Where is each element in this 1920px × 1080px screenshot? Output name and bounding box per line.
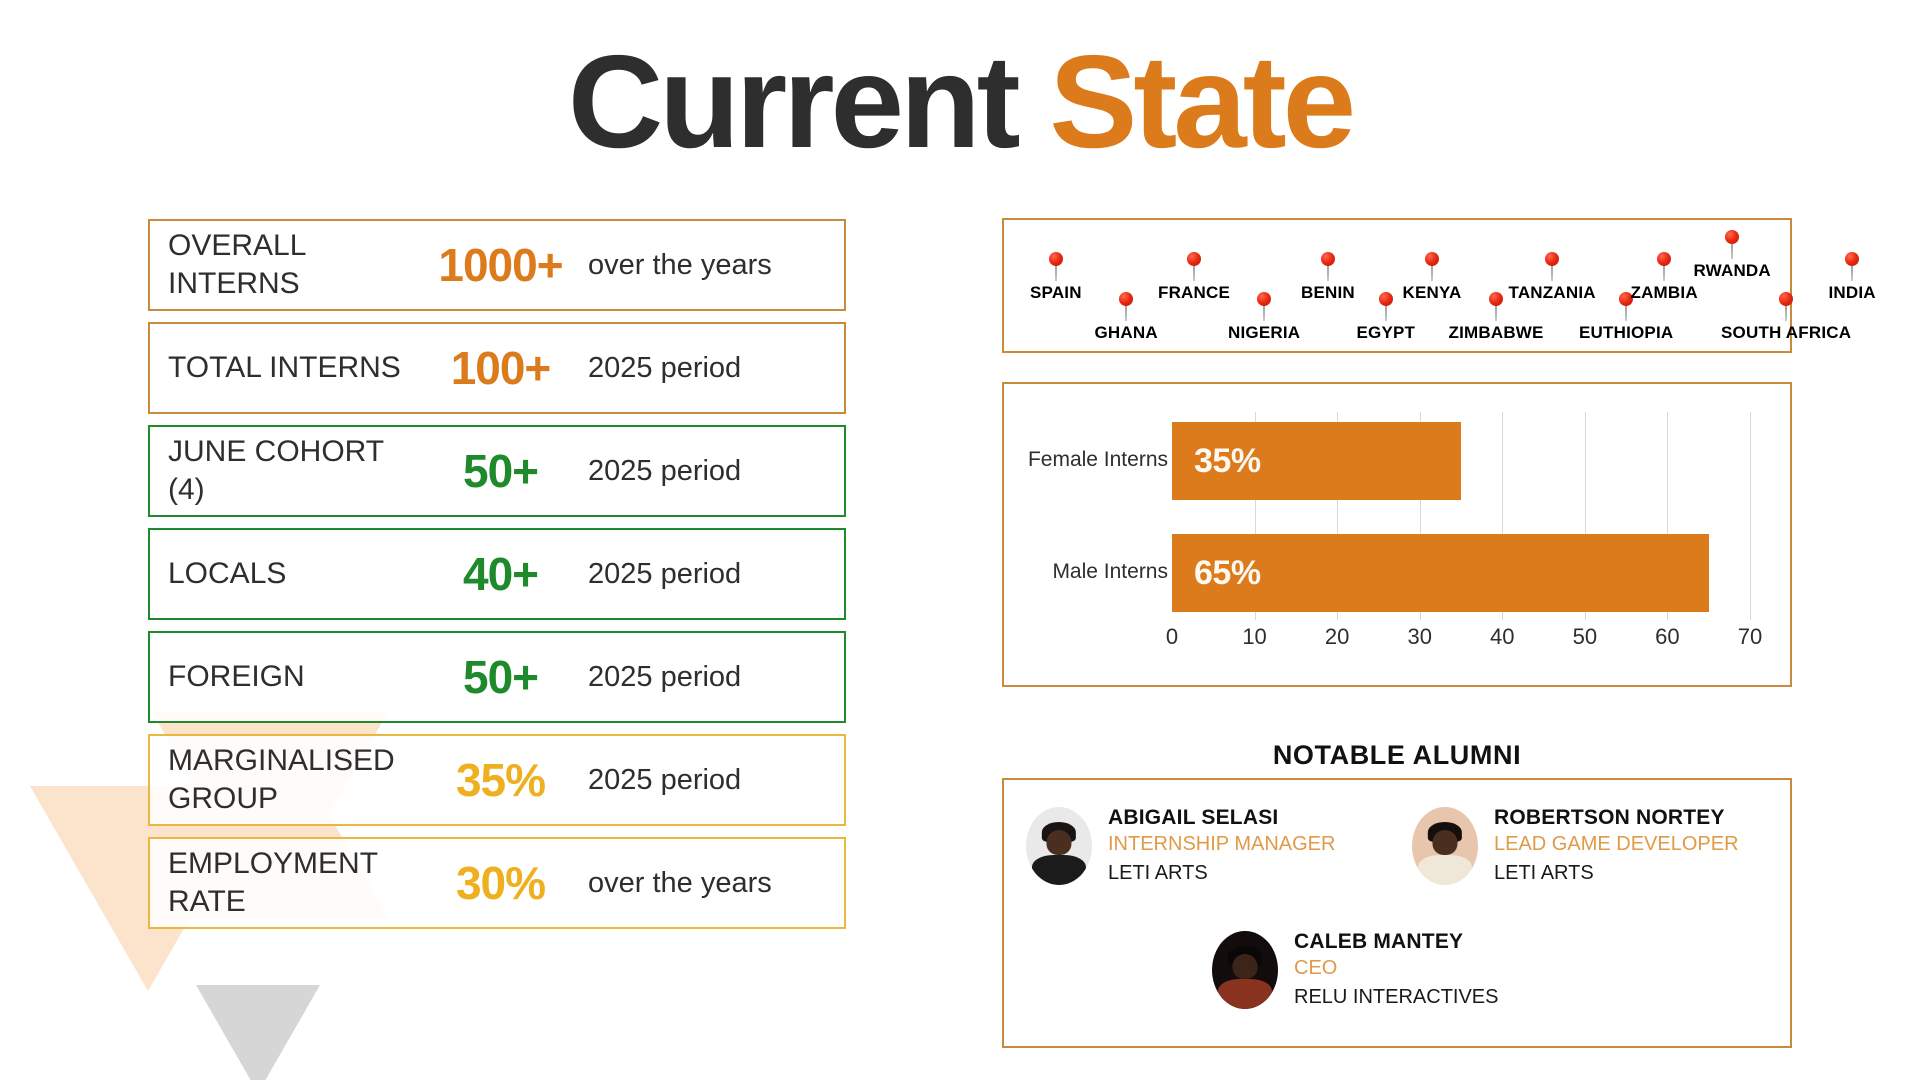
location-label: RWANDA (1694, 261, 1771, 281)
stat-card: LOCALS40+2025 period (148, 528, 846, 620)
alumni-role: LEAD GAME DEVELOPER (1494, 833, 1739, 856)
map-pin-icon (1724, 230, 1740, 260)
alumni-role: INTERNSHIP MANAGER (1108, 833, 1335, 856)
map-pin-icon (1656, 252, 1672, 282)
chart-bar: 35% (1172, 422, 1461, 500)
location-label: FRANCE (1158, 283, 1230, 303)
map-pin-icon (1544, 252, 1560, 282)
stat-card: JUNE COHORT (4)50+2025 period (148, 425, 846, 517)
map-pin-icon (1844, 252, 1860, 282)
chart-x-tick: 70 (1738, 624, 1762, 650)
location-pin-item: NIGERIA (1228, 292, 1300, 343)
stat-value: 100+ (413, 341, 588, 395)
decor-triangle-down-grey (196, 985, 320, 1080)
alumni-role: CEO (1294, 957, 1498, 980)
avatar (1026, 807, 1092, 885)
stat-value: 1000+ (413, 238, 588, 292)
stat-value: 50+ (413, 650, 588, 704)
stat-label: EMPLOYMENT RATE (168, 845, 413, 922)
stats-list: OVERALL INTERNS1000+over the yearsTOTAL … (148, 219, 846, 940)
location-pin-item: ZAMBIA (1631, 252, 1698, 303)
alumni-name: ABIGAIL SELASI (1108, 806, 1335, 830)
location-label: ZAMBIA (1631, 283, 1698, 303)
alumni-card: ROBERTSON NORTEYLEAD GAME DEVELOPERLETI … (1412, 806, 1739, 885)
locations-panel: SPAINGHANAFRANCENIGERIABENINEGYPTKENYAZI… (1002, 218, 1792, 353)
map-pin-icon (1778, 292, 1794, 322)
stat-value: 30% (413, 856, 588, 910)
location-pin-item: INDIA (1829, 252, 1876, 303)
stat-note: 2025 period (588, 558, 741, 591)
location-label: EGYPT (1357, 323, 1416, 343)
location-label: INDIA (1829, 283, 1876, 303)
page-title: Current State (0, 36, 1920, 168)
location-label: GHANA (1095, 323, 1158, 343)
map-pin-icon (1378, 292, 1394, 322)
map-pin-icon (1424, 252, 1440, 282)
alumni-text: ABIGAIL SELASIINTERNSHIP MANAGERLETI ART… (1108, 806, 1335, 885)
map-pin-icon (1256, 292, 1272, 322)
alumni-name: CALEB MANTEY (1294, 930, 1498, 954)
location-label: SOUTH AFRICA (1721, 323, 1851, 343)
stat-card: FOREIGN50+2025 period (148, 631, 846, 723)
stat-note: 2025 period (588, 352, 741, 385)
stat-note: 2025 period (588, 764, 741, 797)
chart-bar-value: 35% (1194, 442, 1261, 481)
alumni-card: ABIGAIL SELASIINTERNSHIP MANAGERLETI ART… (1026, 806, 1335, 885)
chart-x-tick: 10 (1242, 624, 1266, 650)
stat-value: 50+ (413, 444, 588, 498)
stat-label: JUNE COHORT (4) (168, 433, 413, 510)
map-pin-icon (1118, 292, 1134, 322)
stat-card: OVERALL INTERNS1000+over the years (148, 219, 846, 311)
location-pin-item: SPAIN (1030, 252, 1082, 303)
stat-note: 2025 period (588, 661, 741, 694)
avatar (1212, 931, 1278, 1009)
location-label: BENIN (1301, 283, 1355, 303)
alumni-organization: RELU INTERACTIVES (1294, 986, 1498, 1009)
map-pin-icon (1186, 252, 1202, 282)
location-label: ZIMBABWE (1449, 323, 1544, 343)
alumni-panel: ABIGAIL SELASIINTERNSHIP MANAGERLETI ART… (1002, 778, 1792, 1048)
map-pin-icon (1048, 252, 1064, 282)
chart-bar: 65% (1172, 534, 1709, 612)
location-label: NIGERIA (1228, 323, 1300, 343)
avatar (1412, 807, 1478, 885)
page-title-primary: Current (568, 28, 1017, 175)
page-title-accent: State (1049, 28, 1352, 175)
chart-x-tick: 40 (1490, 624, 1514, 650)
alumni-organization: LETI ARTS (1108, 862, 1335, 885)
alumni-heading: NOTABLE ALUMNI (1002, 740, 1792, 771)
location-pin-item: RWANDA (1694, 230, 1771, 281)
stat-label: FOREIGN (168, 658, 413, 696)
chart-x-tick: 50 (1573, 624, 1597, 650)
stat-card: MARGINALISED GROUP35%2025 period (148, 734, 846, 826)
location-pin-item: GHANA (1095, 292, 1158, 343)
stat-label: MARGINALISED GROUP (168, 742, 413, 819)
alumni-text: ROBERTSON NORTEYLEAD GAME DEVELOPERLETI … (1494, 806, 1739, 885)
chart-x-tick: 30 (1407, 624, 1431, 650)
stat-value: 40+ (413, 547, 588, 601)
chart-x-tick: 60 (1655, 624, 1679, 650)
stat-label: OVERALL INTERNS (168, 227, 413, 304)
chart-x-tick: 20 (1325, 624, 1349, 650)
location-pin-item: BENIN (1301, 252, 1355, 303)
chart-gridline (1750, 412, 1751, 620)
chart-plot-area: 35%65% (1172, 412, 1750, 620)
stat-card: EMPLOYMENT RATE30%over the years (148, 837, 846, 929)
alumni-organization: LETI ARTS (1494, 862, 1739, 885)
location-label: EUTHIOPIA (1579, 323, 1673, 343)
stat-card: TOTAL INTERNS100+2025 period (148, 322, 846, 414)
chart-category-label: Male Interns (1052, 560, 1168, 584)
location-pin-item: FRANCE (1158, 252, 1230, 303)
gender-split-chart-panel: 35%65% 010203040506070 Female InternsMal… (1002, 382, 1792, 687)
alumni-text: CALEB MANTEYCEORELU INTERACTIVES (1294, 930, 1498, 1009)
alumni-card: CALEB MANTEYCEORELU INTERACTIVES (1212, 930, 1498, 1009)
chart-category-label: Female Interns (1028, 448, 1168, 472)
stat-note: over the years (588, 249, 772, 282)
map-pin-icon (1320, 252, 1336, 282)
chart-x-axis: 010203040506070 (1172, 624, 1750, 654)
chart-bar-value: 65% (1194, 554, 1261, 593)
chart-inner: 35%65% 010203040506070 Female InternsMal… (1004, 384, 1790, 685)
location-label: SPAIN (1030, 283, 1082, 303)
chart-x-tick: 0 (1166, 624, 1178, 650)
slide-root: Current State OVERALL INTERNS1000+over t… (0, 0, 1920, 1080)
map-pin-icon (1488, 292, 1504, 322)
stat-label: TOTAL INTERNS (168, 349, 413, 387)
stat-note: 2025 period (588, 455, 741, 488)
alumni-name: ROBERTSON NORTEY (1494, 806, 1739, 830)
stat-note: over the years (588, 867, 772, 900)
stat-label: LOCALS (168, 555, 413, 593)
stat-value: 35% (413, 753, 588, 807)
